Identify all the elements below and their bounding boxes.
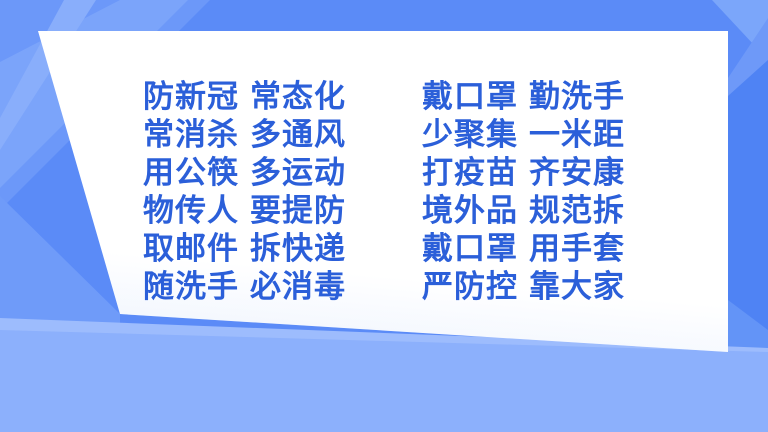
slogan-phrase-first: 少聚集 bbox=[422, 117, 518, 153]
slogan-phrase-first: 严防控 bbox=[422, 269, 518, 305]
slogan-phrase-second: 多运动 bbox=[250, 155, 346, 191]
slogan-phrase-second: 常态化 bbox=[250, 79, 346, 115]
slogan-phrase-first: 用公筷 bbox=[143, 155, 239, 191]
poster-root: 防新冠常态化 常消杀多通风 用公筷多运动 物传人要提防 取邮件拆快递 随洗手必消… bbox=[0, 0, 768, 432]
slogan-phrase-second: 一米距 bbox=[529, 117, 625, 153]
slogan-phrase-first: 物传人 bbox=[143, 193, 239, 229]
slogan-line: 戴口罩用手套 bbox=[422, 230, 625, 268]
slogan-phrase-first: 随洗手 bbox=[143, 269, 239, 305]
slogan-line: 常消杀多通风 bbox=[143, 116, 346, 154]
slogan-phrase-second: 齐安康 bbox=[529, 155, 625, 191]
slogan-line: 取邮件拆快递 bbox=[143, 230, 346, 268]
slogan-line: 严防控靠大家 bbox=[422, 268, 625, 306]
slogan-phrase-first: 戴口罩 bbox=[422, 231, 518, 267]
slogan-phrase-second: 用手套 bbox=[529, 231, 625, 267]
slogan-phrase-first: 取邮件 bbox=[143, 231, 239, 267]
slogan-column-right: 戴口罩勤洗手 少聚集一米距 打疫苗齐安康 境外品规范拆 戴口罩用手套 严防控靠大… bbox=[422, 78, 625, 306]
slogan-line: 打疫苗齐安康 bbox=[422, 154, 625, 192]
slogan-phrase-second: 多通风 bbox=[250, 117, 346, 153]
slogan-phrase-second: 勤洗手 bbox=[529, 79, 625, 115]
slogan-line: 随洗手必消毒 bbox=[143, 268, 346, 306]
slogan-phrase-second: 必消毒 bbox=[250, 269, 346, 305]
slogan-phrase-first: 戴口罩 bbox=[422, 79, 518, 115]
slogan-line: 戴口罩勤洗手 bbox=[422, 78, 625, 116]
slogan-line: 防新冠常态化 bbox=[143, 78, 346, 116]
slogan-phrase-second: 拆快递 bbox=[250, 231, 346, 267]
slogan-phrase-first: 打疫苗 bbox=[422, 155, 518, 191]
slogan-line: 少聚集一米距 bbox=[422, 116, 625, 154]
slogan-phrase-first: 防新冠 bbox=[143, 79, 239, 115]
slogan-phrase-first: 常消杀 bbox=[143, 117, 239, 153]
slogan-grid: 防新冠常态化 常消杀多通风 用公筷多运动 物传人要提防 取邮件拆快递 随洗手必消… bbox=[0, 78, 768, 306]
slogan-phrase-second: 靠大家 bbox=[529, 269, 625, 305]
slogan-line: 物传人要提防 bbox=[143, 192, 346, 230]
slogan-phrase-second: 规范拆 bbox=[529, 193, 625, 229]
slogan-phrase-first: 境外品 bbox=[422, 193, 518, 229]
slogan-line: 境外品规范拆 bbox=[422, 192, 625, 230]
slogan-phrase-second: 要提防 bbox=[250, 193, 346, 229]
slogan-column-left: 防新冠常态化 常消杀多通风 用公筷多运动 物传人要提防 取邮件拆快递 随洗手必消… bbox=[143, 78, 346, 306]
slogan-line: 用公筷多运动 bbox=[143, 154, 346, 192]
